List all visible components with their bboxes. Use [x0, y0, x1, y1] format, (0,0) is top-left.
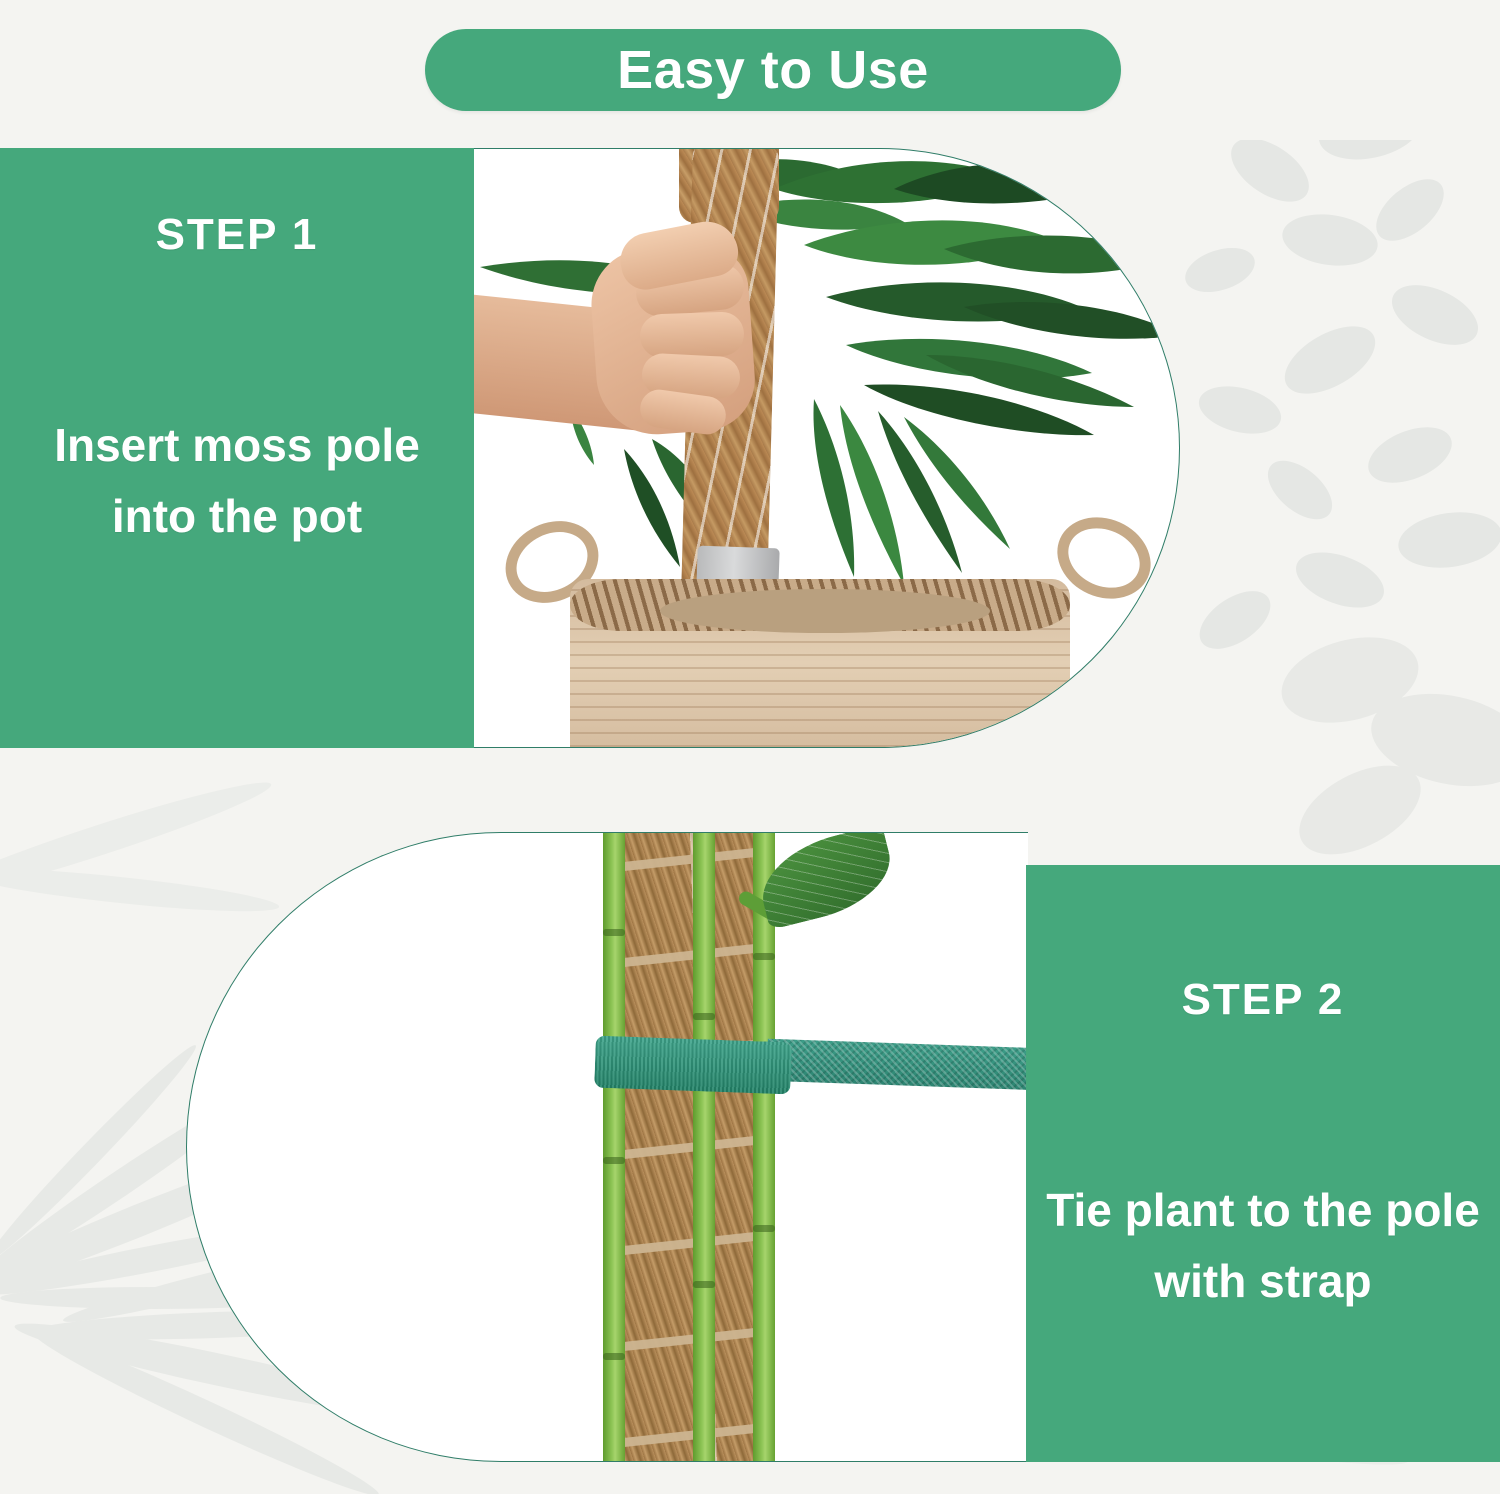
stem-node [693, 1281, 715, 1288]
step-2-row: Close-up of a coir moss pole with green … [0, 832, 1500, 1462]
infographic-page: Easy to Use STEP 1 Insert moss pole into… [0, 0, 1500, 1494]
plant-stem-right [753, 832, 775, 1462]
step-1-row: STEP 1 Insert moss pole into the pot [0, 148, 1500, 748]
stem-node [603, 1157, 625, 1164]
step-1-label: STEP 1 [156, 210, 319, 260]
plant-stem-middle [693, 832, 715, 1462]
stem-node [753, 953, 775, 960]
page-title: Easy to Use [617, 43, 929, 97]
step-2-photo: Close-up of a coir moss pole with green … [187, 833, 1028, 1461]
step-1-photo-panel: A hand holding a coir moss pole insertin… [474, 148, 1180, 748]
step-1-photo: A hand holding a coir moss pole insertin… [474, 149, 1179, 747]
hand [474, 209, 794, 489]
step-2-label: STEP 2 [1182, 975, 1345, 1025]
basket-opening [660, 589, 990, 633]
stem-node [693, 1013, 715, 1020]
step-2-photo-panel: Close-up of a coir moss pole with green … [186, 832, 1028, 1462]
step-2-caption-panel: STEP 2 Tie plant to the pole with strap [1026, 865, 1500, 1462]
stem-node [603, 929, 625, 936]
title-bar: Easy to Use [0, 0, 1500, 140]
title-pill: Easy to Use [425, 29, 1121, 111]
seagrass-basket [570, 579, 1070, 748]
step-1-description: Insert moss pole into the pot [2, 410, 472, 553]
basket-group [474, 497, 1180, 747]
step-1-caption-panel: STEP 1 Insert moss pole into the pot [0, 148, 474, 748]
stem-node [603, 1353, 625, 1360]
finger-middle [639, 311, 744, 359]
plant-strap-loop [594, 1036, 792, 1095]
step-2-description: Tie plant to the pole with strap [1028, 1175, 1498, 1318]
stem-node [753, 1225, 775, 1232]
plant-stem-left [603, 832, 625, 1462]
